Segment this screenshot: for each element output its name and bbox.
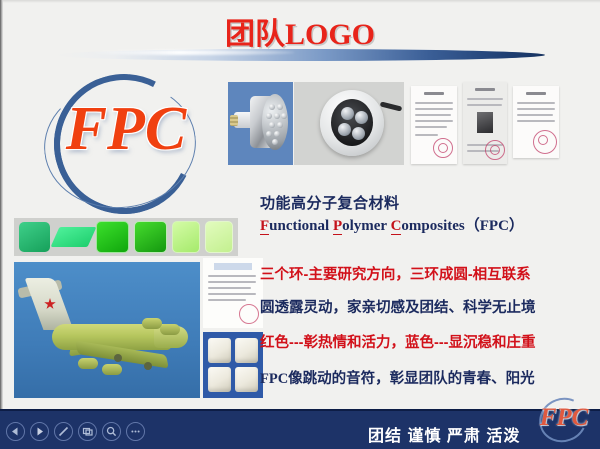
led-dot <box>274 131 280 137</box>
tile-teal-green <box>19 222 50 252</box>
initial-c: C <box>391 218 402 235</box>
led-dot <box>355 111 368 124</box>
previous-slide-button[interactable] <box>6 422 25 441</box>
enclosure-part <box>208 367 231 392</box>
next-slide-button[interactable] <box>30 422 49 441</box>
word-composites: omposites <box>401 218 464 234</box>
plane-engine <box>78 358 98 369</box>
slide-left-edge <box>0 0 3 409</box>
doc-line <box>517 114 553 116</box>
led-dot <box>266 131 272 137</box>
transport-aircraft-photo <box>14 262 200 398</box>
statement-line-2: 圆透露灵动，家亲切感及团结、科学无止境 <box>260 296 536 317</box>
tile-diamond-green <box>50 227 95 247</box>
material-name-chinese: 功能高分子复合材料 <box>260 192 400 213</box>
doc-line <box>517 120 556 122</box>
word-polymer: olymer <box>342 218 390 234</box>
slideshow-controls[interactable] <box>6 422 145 441</box>
certificate-scan-1 <box>411 86 457 164</box>
green-sample-tiles <box>14 218 238 256</box>
downlight-reflector <box>331 99 373 146</box>
tile-bright-green <box>96 221 129 253</box>
doc-heading <box>475 88 494 91</box>
word-functional: unctional <box>269 218 333 234</box>
doc-line <box>467 104 502 106</box>
led-dot <box>269 122 275 128</box>
red-seal-stamp-icon <box>239 304 259 324</box>
doc-line <box>415 108 454 110</box>
pen-tool-button[interactable] <box>54 422 73 441</box>
doc-line <box>415 102 454 104</box>
enclosure-part <box>235 367 258 392</box>
abbrev-suffix: （FPC） <box>465 218 524 234</box>
plane-engine <box>160 324 180 335</box>
doc-line <box>415 114 452 116</box>
led-dot <box>338 123 351 136</box>
red-seal-stamp-icon <box>433 138 453 158</box>
plane-landing-gear <box>144 362 152 370</box>
logo-letters: FPC <box>28 98 224 160</box>
certificate-document-photo <box>203 258 263 328</box>
doc-line <box>208 287 251 289</box>
led-dot <box>277 104 283 110</box>
doc-line <box>208 275 256 277</box>
downlight-cable <box>380 101 403 111</box>
cert-header-band <box>214 263 252 270</box>
doc-heading <box>424 92 444 95</box>
led-dot <box>266 113 272 119</box>
initial-f: F <box>260 218 269 235</box>
watermark-letters: FPC <box>533 404 595 432</box>
led-dot <box>352 127 365 140</box>
initial-p: P <box>333 218 342 235</box>
fpc-logo: FPC <box>28 68 224 218</box>
plane-engine <box>142 318 162 329</box>
certificate-scan-2 <box>463 82 507 164</box>
doc-line <box>415 120 454 122</box>
composite-enclosure-parts-photo <box>203 332 263 398</box>
fpc-watermark: FPC <box>533 396 595 446</box>
slideshow-bottom-bar: 团结 谨慎 严肃 活泼 <box>0 409 600 449</box>
doc-line <box>415 134 438 136</box>
doc-line <box>517 108 556 110</box>
material-name-english: Functional Polymer Composites（FPC） <box>260 214 524 235</box>
doc-line <box>208 281 256 283</box>
red-seal-stamp-icon <box>533 130 557 154</box>
lamp-screw-thread <box>230 115 238 126</box>
doc-line <box>517 102 556 104</box>
certificate-scan-3 <box>513 86 559 158</box>
statement-line-3: 红色---彰热情和活力，蓝色---显沉稳和庄重 <box>260 331 535 352</box>
doc-line <box>208 299 246 301</box>
red-seal-stamp-icon <box>485 140 505 160</box>
zoom-button[interactable] <box>102 422 121 441</box>
doc-line <box>208 293 256 295</box>
tile-mid-green <box>134 221 167 253</box>
led-dot <box>341 107 354 120</box>
decorative-swoosh <box>55 46 545 64</box>
led-downlight-photo <box>294 82 404 165</box>
slide-top-edge <box>0 0 600 3</box>
statement-line-4: FPC像跳动的音符，彰显团队的青春、阳光 <box>260 367 535 388</box>
doc-line <box>467 98 504 100</box>
tile-light-green <box>205 221 233 253</box>
doc-heading <box>526 92 546 95</box>
plane-engine <box>102 364 122 375</box>
statement-line-1: 三个环-主要研究方向，三环成圆-相互联系 <box>260 263 531 284</box>
led-dot <box>269 104 275 110</box>
presentation-slide: 团队LOGO FPC <box>0 0 600 449</box>
swoosh-highlight <box>85 50 295 55</box>
more-options-button[interactable] <box>126 422 145 441</box>
led-dot <box>281 113 287 119</box>
all-slides-button[interactable] <box>78 422 97 441</box>
enclosure-part <box>208 338 231 363</box>
plane-landing-gear <box>114 354 122 362</box>
led-dot <box>272 139 278 145</box>
led-dot <box>274 113 280 119</box>
tile-pale-green <box>172 221 200 253</box>
led-par-lamp-photo <box>228 82 293 165</box>
led-dot <box>277 122 283 128</box>
enclosure-part <box>235 338 258 363</box>
doc-line <box>415 126 447 128</box>
doc-portrait-photo <box>477 112 493 133</box>
team-motto: 团结 谨慎 严肃 活泼 <box>368 422 520 446</box>
